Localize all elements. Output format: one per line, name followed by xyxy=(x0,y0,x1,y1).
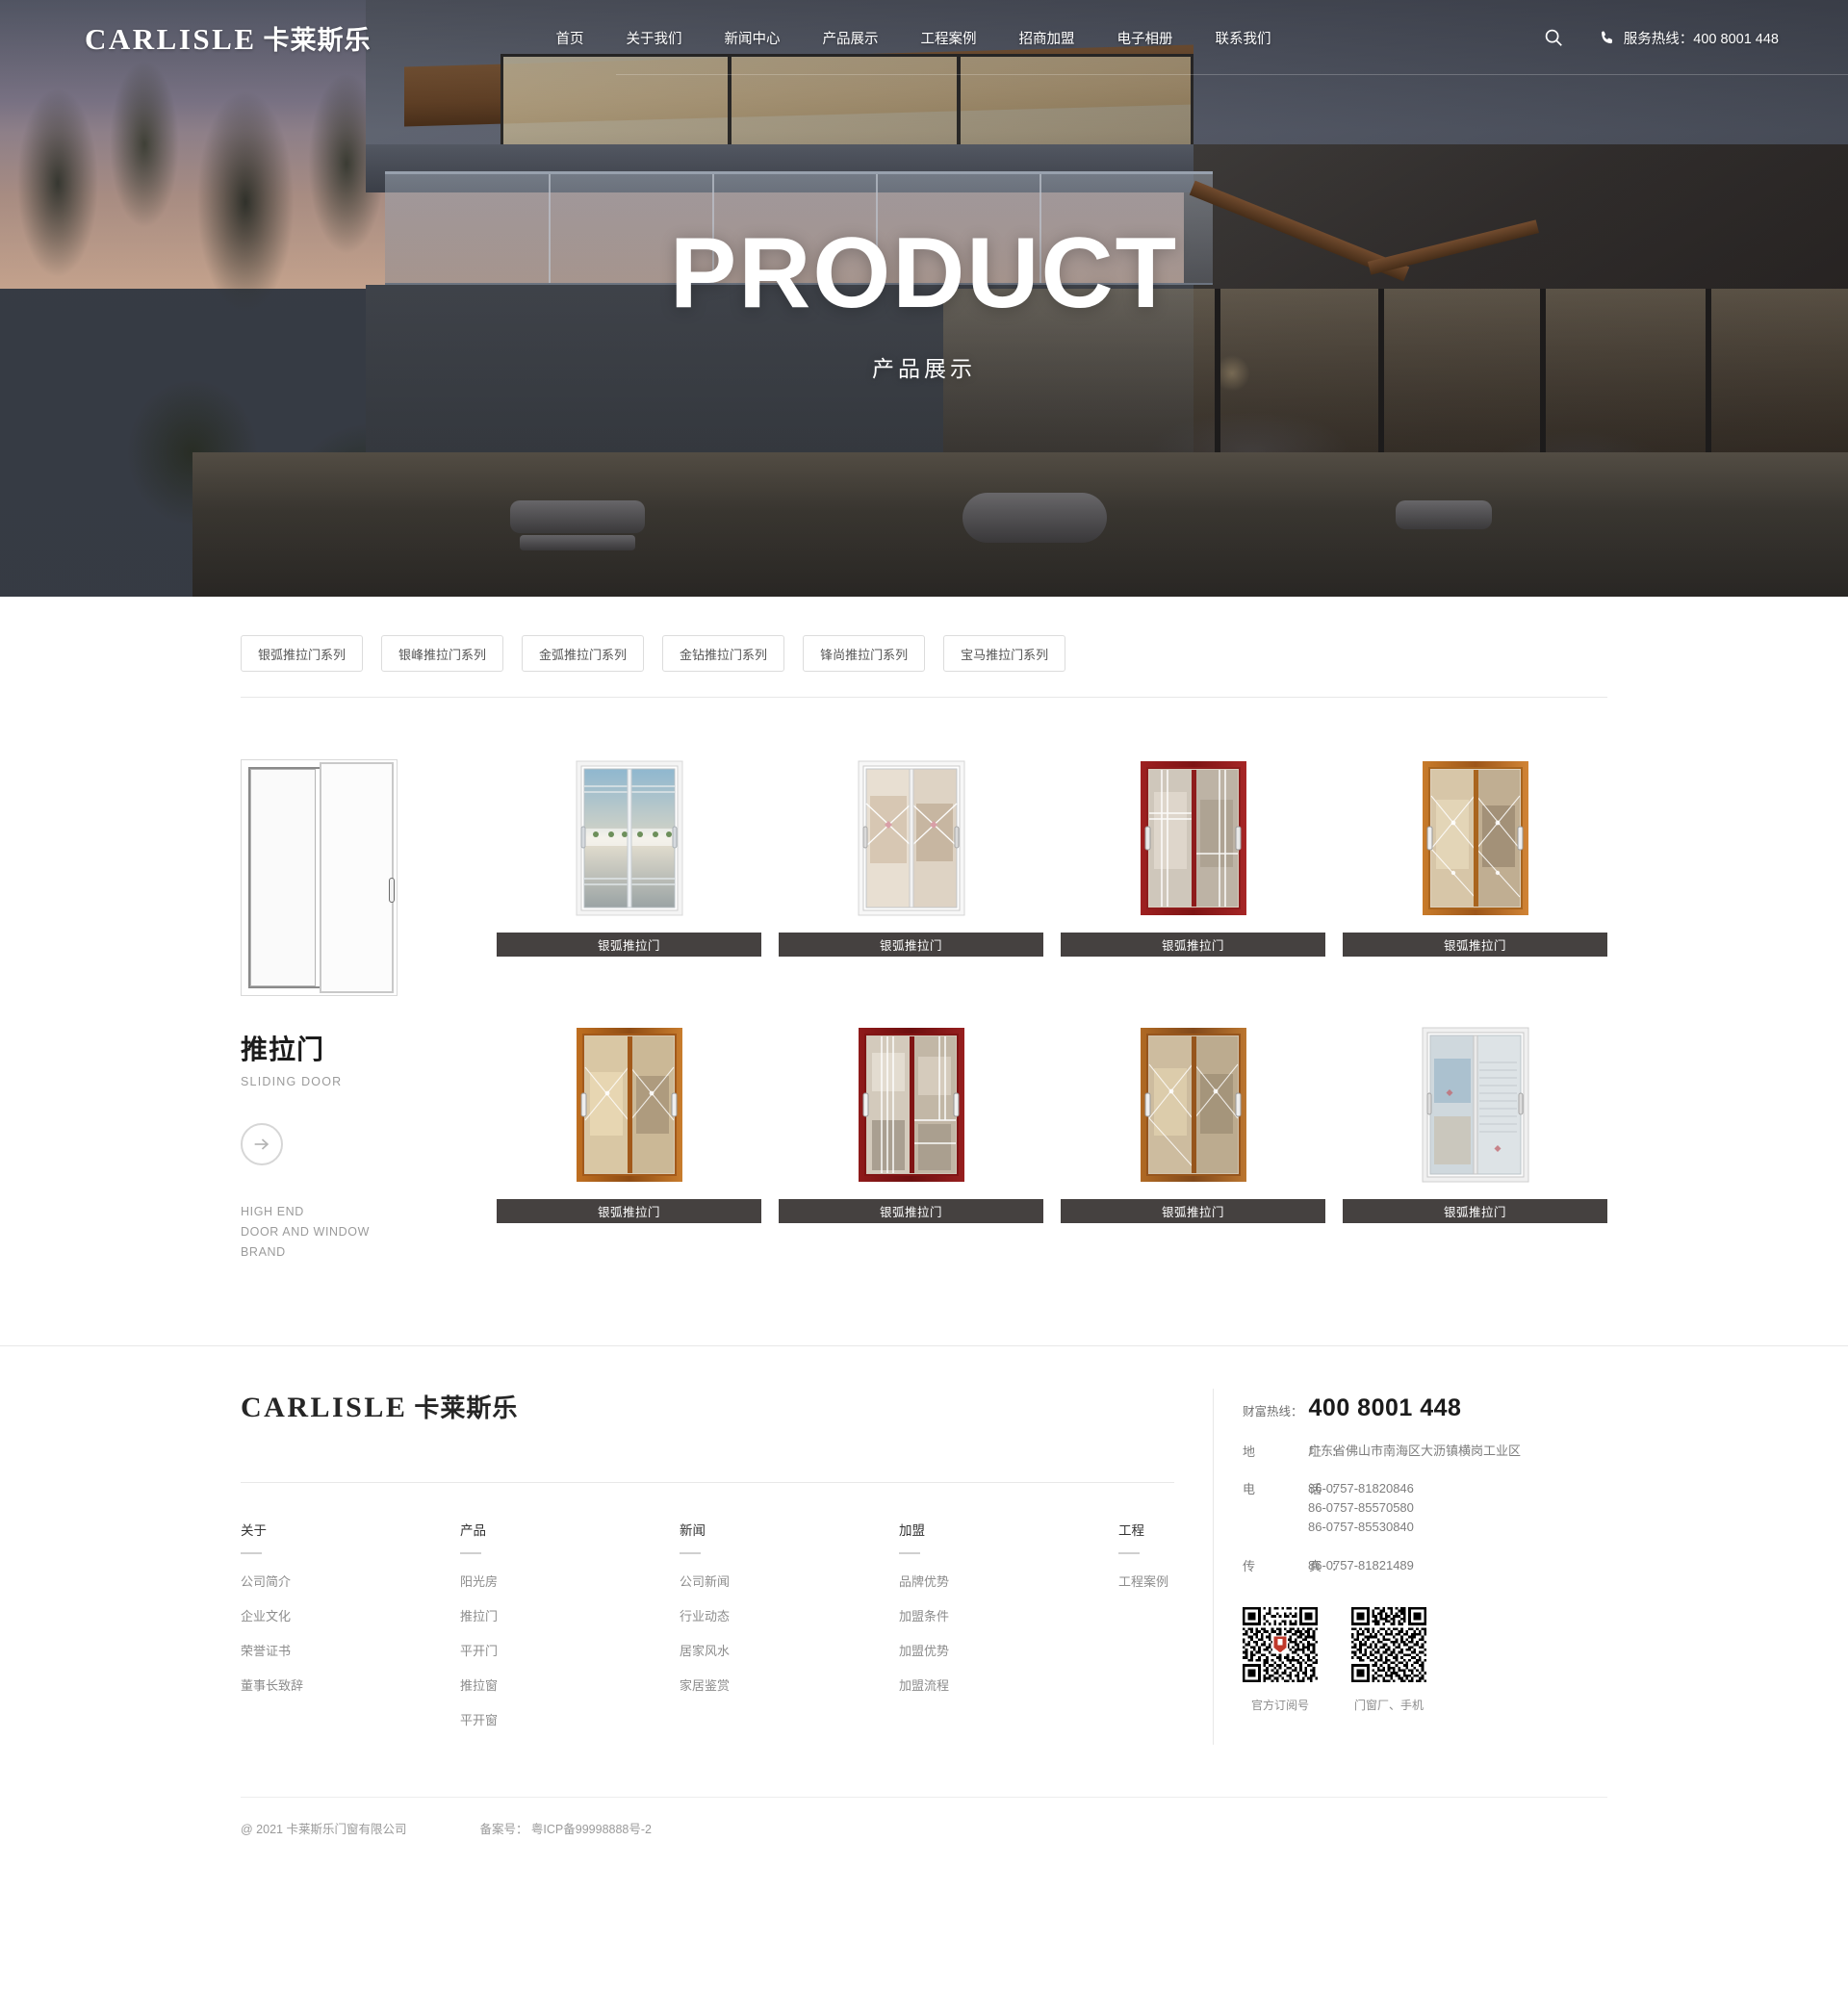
address-row: 地 址： 广东省佛山市南海区大沥镇横岗工业区 xyxy=(1243,1442,1607,1460)
telephone-values: 86-0757-81820846 86-0757-85570580 86-075… xyxy=(1308,1479,1414,1537)
footer-link[interactable]: 公司新闻 xyxy=(680,1572,899,1590)
fax-row: 传 真： 86-0757-81821489 xyxy=(1243,1556,1607,1574)
product-image xyxy=(1343,757,1607,919)
qr-caption: 门窗厂、手机 xyxy=(1351,1697,1426,1713)
column-underline xyxy=(680,1552,701,1554)
column-underline xyxy=(899,1552,920,1554)
footer-link[interactable]: 平开窗 xyxy=(460,1710,680,1728)
footer-column-about: 关于 公司简介 企业文化 荣誉证书 董事长致辞 xyxy=(241,1520,460,1745)
product-caption: 银弧推拉门 xyxy=(1343,933,1607,957)
product-card[interactable]: 银弧推拉门 xyxy=(497,1024,761,1264)
address-value: 广东省佛山市南海区大沥镇横岗工业区 xyxy=(1308,1442,1521,1460)
filter-yinhu[interactable]: 银弧推拉门系列 xyxy=(241,635,363,672)
service-hotline[interactable]: 服务热线：400 8001 448 xyxy=(1624,28,1779,48)
telephone-value[interactable]: 86-0757-81820846 xyxy=(1308,1479,1414,1497)
door-white-diamond-icon xyxy=(851,757,972,919)
door-red-grid-icon xyxy=(1133,757,1254,919)
nav-item-about[interactable]: 关于我们 xyxy=(605,28,704,48)
product-card[interactable]: 银弧推拉门 xyxy=(1343,1024,1607,1264)
footer-link[interactable]: 推拉窗 xyxy=(460,1675,680,1694)
product-caption: 银弧推拉门 xyxy=(1061,933,1325,957)
filter-yinfeng[interactable]: 银峰推拉门系列 xyxy=(381,635,503,672)
filter-jinzuan[interactable]: 金钻推拉门系列 xyxy=(662,635,784,672)
telephone-value[interactable]: 86-0757-85530840 xyxy=(1308,1518,1414,1536)
hotline-label: 财富热线： xyxy=(1243,1401,1303,1419)
qr-code-icon xyxy=(1351,1607,1426,1682)
product-grid: 银弧推拉门 xyxy=(497,757,1607,1263)
top-navigation: CARLISLE卡莱斯乐 首页 关于我们 新闻中心 产品展示 工程案例 招商加盟… xyxy=(0,0,1848,75)
column-title: 关于 xyxy=(241,1520,460,1539)
footer-link[interactable]: 荣誉证书 xyxy=(241,1641,460,1659)
phone-icon xyxy=(1599,30,1615,46)
qr-code-icon xyxy=(1243,1607,1318,1682)
tagline-line-2: DOOR AND WINDOW xyxy=(241,1222,441,1242)
filter-baoma[interactable]: 宝马推拉门系列 xyxy=(943,635,1065,672)
fax-label: 传 真： xyxy=(1243,1556,1308,1574)
filter-jinhu[interactable]: 金弧推拉门系列 xyxy=(522,635,644,672)
product-card[interactable]: 银弧推拉门 xyxy=(779,757,1043,997)
copyright-text: @ 2021 卡莱斯乐门窗有限公司 xyxy=(241,1819,406,1837)
footer-link[interactable]: 企业文化 xyxy=(241,1606,460,1624)
footer-link[interactable]: 居家风水 xyxy=(680,1641,899,1659)
category-title: 推拉门 xyxy=(241,1029,441,1067)
product-image xyxy=(1061,1024,1325,1186)
footer-link[interactable]: 阳光房 xyxy=(460,1572,680,1590)
footer-link-columns: 关于 公司简介 企业文化 荣誉证书 董事长致辞 产品 阳光房 推拉门 平开门 推… xyxy=(241,1483,1174,1745)
column-title: 工程 xyxy=(1118,1520,1168,1539)
product-image xyxy=(1061,757,1325,919)
nav-links: 首页 关于我们 新闻中心 产品展示 工程案例 招商加盟 电子相册 联系我们 xyxy=(535,28,1293,48)
footer-link[interactable]: 平开门 xyxy=(460,1641,680,1659)
footer-column-products: 产品 阳光房 推拉门 平开门 推拉窗 平开窗 xyxy=(460,1520,680,1745)
column-underline xyxy=(1118,1552,1140,1554)
qr-caption: 官方订阅号 xyxy=(1243,1697,1318,1713)
nav-item-franchise[interactable]: 招商加盟 xyxy=(998,28,1096,48)
product-card[interactable]: 银弧推拉门 xyxy=(1061,1024,1325,1264)
search-icon[interactable] xyxy=(1543,27,1564,48)
product-caption: 银弧推拉门 xyxy=(779,1199,1043,1223)
tagline-line-1: HIGH END xyxy=(241,1202,441,1222)
column-title: 新闻 xyxy=(680,1520,899,1539)
product-card[interactable]: 银弧推拉门 xyxy=(779,1024,1043,1264)
category-tagline: HIGH END DOOR AND WINDOW BRAND xyxy=(241,1202,441,1263)
fax-value: 86-0757-81821489 xyxy=(1308,1556,1414,1574)
sliding-door-illustration xyxy=(241,759,398,996)
nav-item-contact[interactable]: 联系我们 xyxy=(1194,28,1293,48)
product-catalog: 推拉门 SLIDING DOOR HIGH END DOOR AND WINDO… xyxy=(241,698,1607,1345)
hero-text: PRODUCT 产品展示 xyxy=(0,223,1848,383)
qr-block: 官方订阅号 xyxy=(1243,1607,1318,1713)
footer-link[interactable]: 品牌优势 xyxy=(899,1572,1118,1590)
column-underline xyxy=(241,1552,262,1554)
footer-link[interactable]: 董事长致辞 xyxy=(241,1675,460,1694)
logo-cn: 卡莱斯乐 xyxy=(264,26,372,55)
qr-block: 门窗厂、手机 xyxy=(1351,1607,1426,1713)
nav-item-news[interactable]: 新闻中心 xyxy=(704,28,802,48)
footer-left: CARLISLE卡莱斯乐 关于 公司简介 企业文化 荣誉证书 董事长致辞 产品 … xyxy=(241,1389,1213,1745)
door-red-stripe-icon xyxy=(851,1024,972,1186)
footer-logo[interactable]: CARLISLE卡莱斯乐 xyxy=(241,1389,1174,1424)
footer-logo-cn: 卡莱斯乐 xyxy=(414,1393,518,1422)
door-scenic-white-icon xyxy=(569,757,690,919)
arrow-right-circle-icon[interactable] xyxy=(241,1123,283,1165)
footer-link[interactable]: 推拉门 xyxy=(460,1606,680,1624)
product-caption: 银弧推拉门 xyxy=(497,933,761,957)
copyright-bar: @ 2021 卡莱斯乐门窗有限公司 备案号： 粤ICP备99998888号-2 xyxy=(241,1797,1607,1862)
site-logo[interactable]: CARLISLE卡莱斯乐 xyxy=(85,19,372,57)
product-card[interactable]: 银弧推拉门 xyxy=(1061,757,1325,997)
hero-title: PRODUCT xyxy=(0,223,1848,323)
product-caption: 银弧推拉门 xyxy=(497,1199,761,1223)
product-card[interactable]: 银弧推拉门 xyxy=(497,757,761,997)
footer-link[interactable]: 加盟条件 xyxy=(899,1606,1118,1624)
telephone-row: 电 话： 86-0757-81820846 86-0757-85570580 8… xyxy=(1243,1479,1607,1537)
product-caption: 银弧推拉门 xyxy=(1343,1199,1607,1223)
nav-item-home[interactable]: 首页 xyxy=(535,28,605,48)
footer-column-projects: 工程 工程案例 xyxy=(1118,1520,1168,1745)
footer-column-news: 新闻 公司新闻 行业动态 居家风水 家居鉴赏 xyxy=(680,1520,899,1745)
filter-fengshang[interactable]: 锋尚推拉门系列 xyxy=(803,635,925,672)
product-image xyxy=(779,757,1043,919)
door-white-blind-icon xyxy=(1415,1024,1536,1186)
column-title: 产品 xyxy=(460,1520,680,1539)
hotline-number[interactable]: 400 8001 448 xyxy=(1309,1394,1462,1422)
door-wood-diamond-icon xyxy=(1133,1024,1254,1186)
nav-item-album[interactable]: 电子相册 xyxy=(1096,28,1194,48)
column-underline xyxy=(460,1552,481,1554)
hero-subtitle: 产品展示 xyxy=(0,350,1848,383)
footer-logo-en: CARLISLE xyxy=(241,1392,407,1423)
address-label: 地 址： xyxy=(1243,1442,1308,1460)
telephone-label: 电 话： xyxy=(1243,1479,1308,1537)
qr-code-row: 官方订阅号 xyxy=(1243,1607,1607,1713)
logo-en: CARLISLE xyxy=(85,22,257,56)
catalog-sidebar: 推拉门 SLIDING DOOR HIGH END DOOR AND WINDO… xyxy=(241,757,441,1263)
page-content: 银弧推拉门系列 银峰推拉门系列 金弧推拉门系列 金钻推拉门系列 锋尚推拉门系列 … xyxy=(241,597,1607,1345)
product-image xyxy=(1343,1024,1607,1186)
footer-link[interactable]: 行业动态 xyxy=(680,1606,899,1624)
product-image xyxy=(779,1024,1043,1186)
footer-link[interactable]: 工程案例 xyxy=(1118,1572,1168,1590)
product-image xyxy=(497,757,761,919)
tagline-line-3: BRAND xyxy=(241,1242,441,1263)
footer-inner: CARLISLE卡莱斯乐 关于 公司简介 企业文化 荣誉证书 董事长致辞 产品 … xyxy=(241,1389,1607,1745)
site-footer: CARLISLE卡莱斯乐 关于 公司简介 企业文化 荣誉证书 董事长致辞 产品 … xyxy=(0,1345,1848,1862)
nav-utilities: 服务热线：400 8001 448 xyxy=(1543,27,1779,48)
nav-item-projects[interactable]: 工程案例 xyxy=(900,28,998,48)
product-card[interactable]: 银弧推拉门 xyxy=(1343,757,1607,997)
product-image xyxy=(497,1024,761,1186)
wealth-hotline: 财富热线： 400 8001 448 xyxy=(1243,1394,1607,1422)
nav-item-products[interactable]: 产品展示 xyxy=(802,28,900,48)
column-title: 加盟 xyxy=(899,1520,1118,1539)
category-title-en: SLIDING DOOR xyxy=(241,1075,441,1088)
icp-text: 备案号： 粤ICP备99998888号-2 xyxy=(479,1819,652,1837)
series-filter-bar: 银弧推拉门系列 银峰推拉门系列 金弧推拉门系列 金钻推拉门系列 锋尚推拉门系列 … xyxy=(241,597,1607,672)
footer-link[interactable]: 家居鉴赏 xyxy=(680,1675,899,1694)
footer-link[interactable]: 加盟优势 xyxy=(899,1641,1118,1659)
door-wood-diamond-icon xyxy=(1415,757,1536,919)
product-caption: 银弧推拉门 xyxy=(1061,1199,1325,1223)
footer-contact: 财富热线： 400 8001 448 地 址： 广东省佛山市南海区大沥镇横岗工业… xyxy=(1213,1389,1607,1745)
product-caption: 银弧推拉门 xyxy=(779,933,1043,957)
footer-column-franchise: 加盟 品牌优势 加盟条件 加盟优势 加盟流程 xyxy=(899,1520,1118,1745)
footer-link[interactable]: 加盟流程 xyxy=(899,1675,1118,1694)
door-wood-diamond-icon xyxy=(569,1024,690,1186)
hero-banner: CARLISLE卡莱斯乐 首页 关于我们 新闻中心 产品展示 工程案例 招商加盟… xyxy=(0,0,1848,597)
footer-link[interactable]: 公司简介 xyxy=(241,1572,460,1590)
telephone-value[interactable]: 86-0757-85570580 xyxy=(1308,1498,1414,1517)
